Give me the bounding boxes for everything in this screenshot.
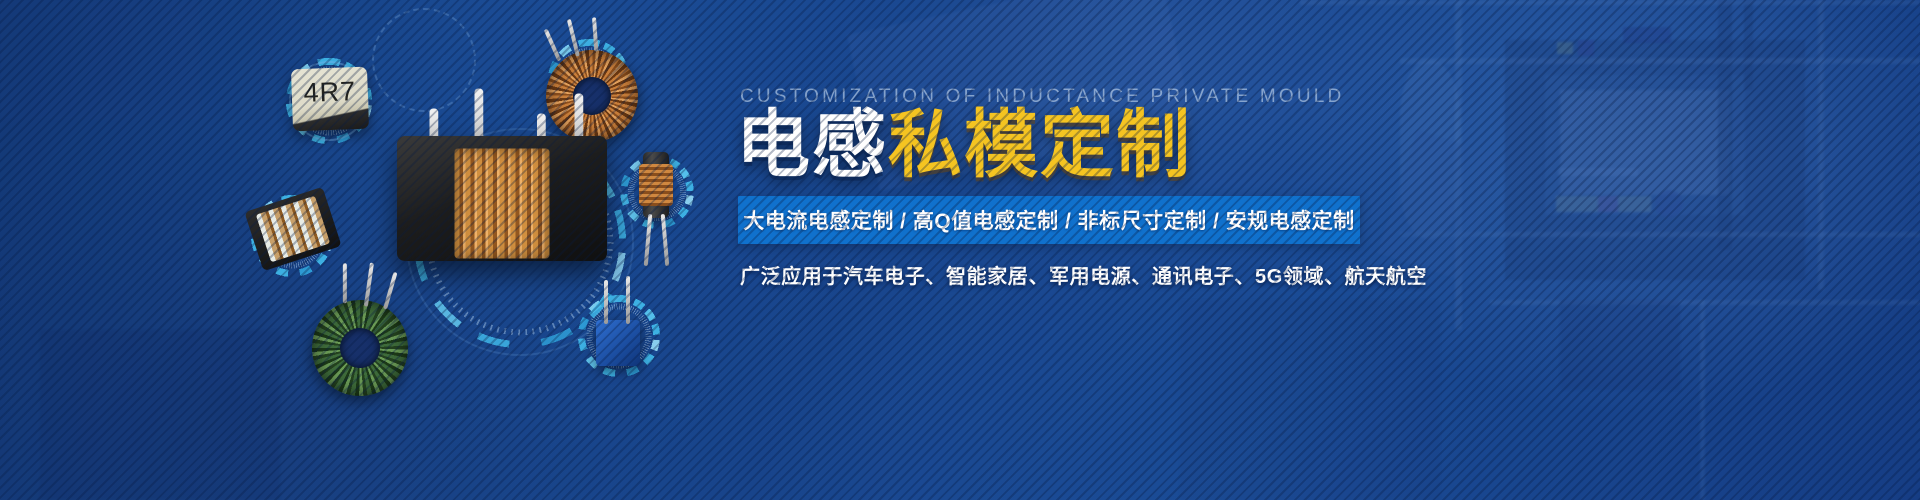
page-title: 电感私模定制	[736, 108, 1192, 182]
product-green-toroid-choke	[312, 300, 408, 396]
rod-choke-body	[643, 152, 669, 218]
blue-inductor-body	[596, 320, 640, 366]
feature-bar-text: 大电流电感定制 / 高Q值电感定制 / 非标尺寸定制 / 安规电感定制	[743, 205, 1354, 235]
feature-bar[interactable]: 大电流电感定制 / 高Q值电感定制 / 非标尺寸定制 / 安规电感定制	[738, 196, 1360, 244]
headline-white-part: 电感	[736, 103, 888, 186]
promo-banner: 4R7	[0, 0, 1920, 500]
banner-content: CUSTOMIZATION OF INDUCTANCE PRIVATE MOUL…	[736, 0, 1856, 500]
banner-subline-text: 广泛应用于汽车电子、智能家居、军用电源、通讯电子、5G领域、航天航空	[740, 260, 1427, 289]
blue-inductor-lead	[626, 276, 630, 324]
product-smd-power-inductor: 4R7	[292, 68, 368, 130]
transformer-body	[397, 104, 607, 269]
green-toroid-lead	[343, 263, 347, 303]
smd-inductor-body: 4R7	[291, 67, 369, 132]
product-blue-radial-inductor	[596, 320, 640, 366]
product-rod-core-choke	[643, 152, 669, 218]
transformer-winding	[455, 149, 550, 259]
blue-inductor-lead	[604, 280, 608, 324]
headline-gold-part: 私模定制	[888, 103, 1192, 186]
tech-ring-upper-dashed	[372, 8, 476, 112]
product-center-transformer-inductor	[397, 104, 607, 269]
rod-choke-winding	[639, 164, 673, 206]
green-toroid-body	[306, 294, 414, 402]
smd-inductor-marking: 4R7	[303, 76, 357, 109]
